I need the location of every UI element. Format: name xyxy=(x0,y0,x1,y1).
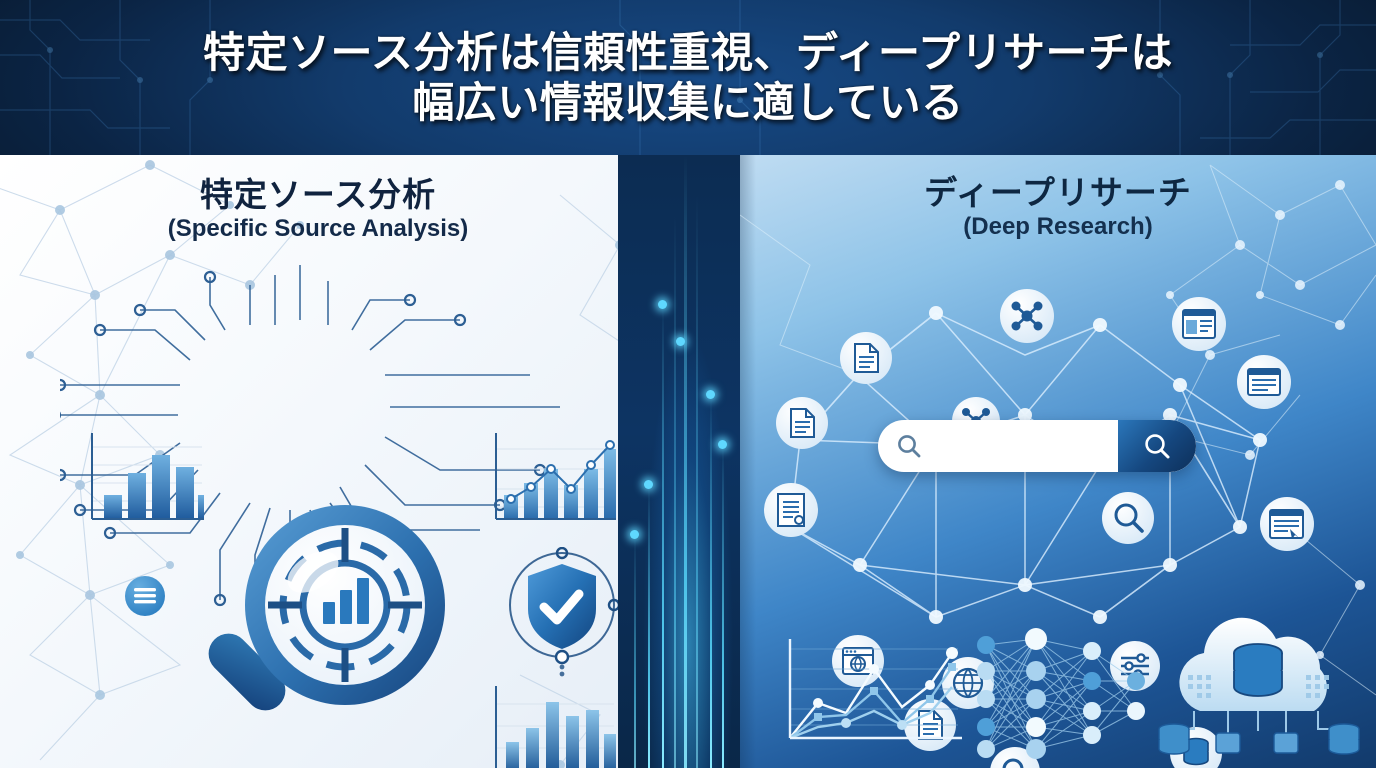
magnifier-target-icon xyxy=(195,480,505,768)
slide-canvas: 特定ソース分析は信頼性重視、ディープリサーチは 幅広い情報収集に適している xyxy=(0,0,1376,768)
search-input[interactable] xyxy=(930,432,1114,462)
top-right-bar-line-chart xyxy=(484,427,616,523)
header-banner: 特定ソース分析は信頼性重視、ディープリサーチは 幅広い情報収集に適している xyxy=(0,0,1376,155)
document-contract-icon[interactable] xyxy=(762,481,820,539)
network-share-icon[interactable] xyxy=(998,287,1056,345)
center-divider-glow xyxy=(618,155,758,768)
webpage-text-icon[interactable] xyxy=(1235,353,1293,411)
top-left-bar-chart xyxy=(78,427,204,523)
header-title: 特定ソース分析は信頼性重視、ディープリサーチは 幅広い情報収集に適している xyxy=(0,0,1376,155)
light-streak xyxy=(674,215,676,768)
left-title-en: (Specific Source Analysis) xyxy=(0,215,636,244)
shield-check-icon xyxy=(498,547,626,679)
light-streak xyxy=(710,395,712,768)
search-icon xyxy=(1142,431,1172,461)
webpage-icon[interactable] xyxy=(1258,495,1316,553)
webpage-icon[interactable] xyxy=(1170,295,1228,353)
cloud-database-diagram xyxy=(1158,603,1373,763)
light-streak xyxy=(648,485,650,768)
search-icon[interactable] xyxy=(1100,490,1156,546)
document-icon[interactable] xyxy=(774,395,830,451)
streak-node-dot xyxy=(644,480,653,489)
document-list-icon xyxy=(122,573,168,619)
right-panel-title: ディープリサーチ (Deep Research) xyxy=(740,175,1376,241)
right-panel-deep-research: ディープリサーチ (Deep Research) xyxy=(740,155,1376,768)
search-icon xyxy=(896,433,922,459)
streak-node-dot xyxy=(658,300,667,309)
bottom-left-line-chart xyxy=(762,625,982,755)
divider-glow-core xyxy=(633,155,743,768)
title-line-1: 特定ソース分析は信頼性重視、ディープリサーチは xyxy=(203,29,1173,77)
streak-node-dot xyxy=(706,390,715,399)
light-streak xyxy=(634,535,636,768)
mid-right-bar-chart xyxy=(484,680,616,768)
left-panel-title: 特定ソース分析 (Specific Source Analysis) xyxy=(0,177,636,243)
streak-node-dot xyxy=(630,530,639,539)
title-line-2: 幅広い情報収集に適している xyxy=(412,79,963,127)
left-title-jp: 特定ソース分析 xyxy=(0,177,636,213)
streak-node-dot xyxy=(718,440,727,449)
neural-network-diagram xyxy=(968,623,1168,759)
streak-node-dot xyxy=(676,337,685,346)
light-streak xyxy=(684,155,687,768)
right-title-en: (Deep Research) xyxy=(740,213,1376,242)
search-bar[interactable] xyxy=(878,420,1196,472)
search-submit-button[interactable] xyxy=(1118,420,1196,472)
document-icon[interactable] xyxy=(838,330,894,386)
light-streak xyxy=(696,195,698,768)
light-streak xyxy=(722,445,724,768)
light-streak xyxy=(662,305,664,768)
left-panel-specific-source-analysis: 特定ソース分析 (Specific Source Analysis) xyxy=(0,155,636,768)
right-title-jp: ディープリサーチ xyxy=(740,175,1376,211)
